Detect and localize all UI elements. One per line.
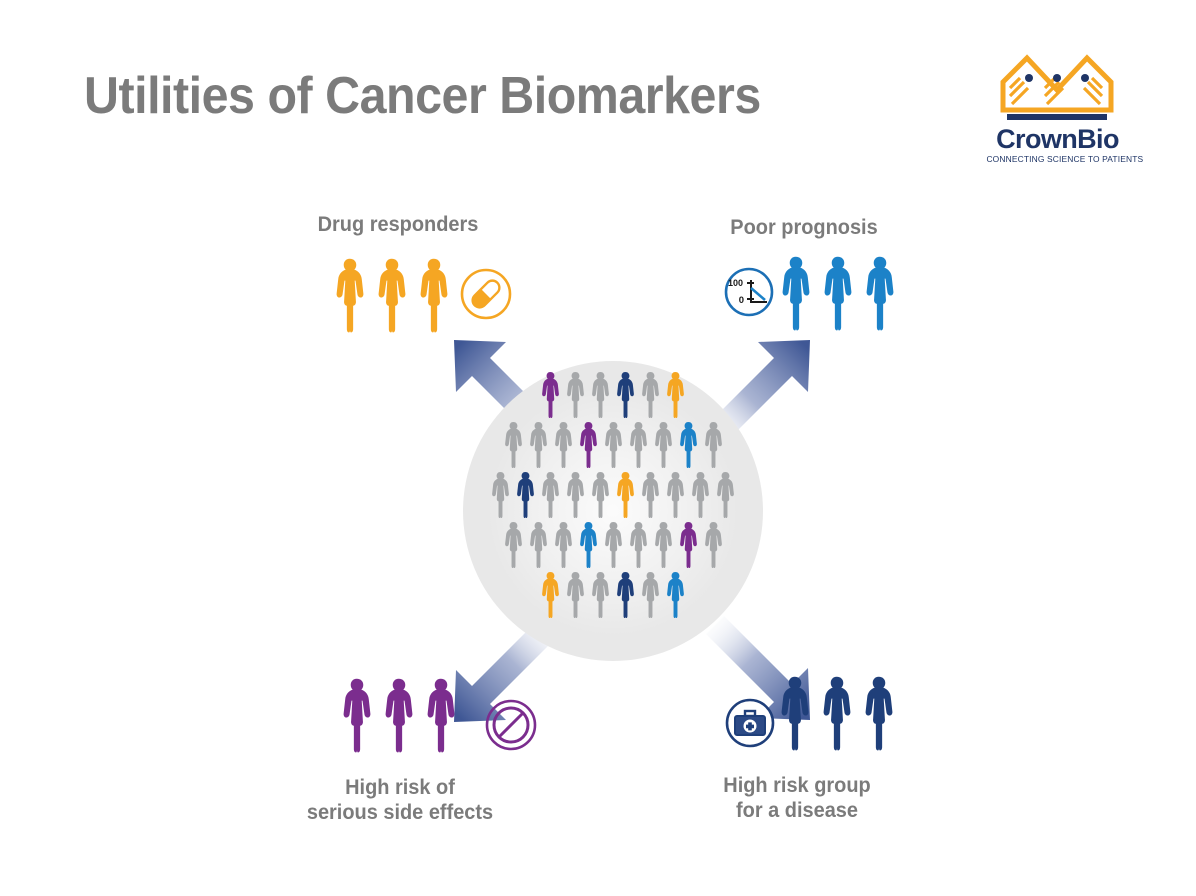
person-figure bbox=[588, 469, 613, 519]
group-high-risk-disease bbox=[775, 670, 899, 752]
person-figure bbox=[776, 250, 816, 332]
no-entry-icon bbox=[484, 698, 538, 757]
pill-icon bbox=[459, 267, 513, 326]
person-figure bbox=[538, 369, 563, 419]
person-figure bbox=[576, 419, 601, 469]
person-figure bbox=[701, 419, 726, 469]
person-figure bbox=[563, 469, 588, 519]
group-drug-responders bbox=[330, 252, 454, 334]
person-figure bbox=[526, 519, 551, 569]
person-figure bbox=[663, 569, 688, 619]
population-cluster bbox=[463, 361, 763, 661]
person-figure bbox=[538, 469, 563, 519]
logo-tagline: CONNECTING SCIENCE TO PATIENTS bbox=[986, 154, 1128, 164]
person-figure bbox=[638, 369, 663, 419]
person-figure bbox=[859, 670, 899, 752]
person-figure bbox=[701, 519, 726, 569]
population-row bbox=[463, 469, 763, 519]
person-figure bbox=[372, 252, 412, 334]
person-figure bbox=[337, 672, 377, 754]
person-figure bbox=[676, 519, 701, 569]
infographic-canvas: Utilities of Cancer Biomarkers Cr bbox=[0, 0, 1196, 896]
medical-kit-icon bbox=[724, 697, 776, 754]
person-figure bbox=[576, 519, 601, 569]
person-figure bbox=[651, 519, 676, 569]
person-figure bbox=[501, 519, 526, 569]
person-figure bbox=[538, 569, 563, 619]
person-figure bbox=[563, 369, 588, 419]
person-figure bbox=[626, 419, 651, 469]
person-figure bbox=[551, 519, 576, 569]
crownbio-logo: CrownBio CONNECTING SCIENCE TO PATIENTS bbox=[985, 48, 1130, 163]
person-figure bbox=[588, 369, 613, 419]
person-figure bbox=[860, 250, 900, 332]
person-figure bbox=[626, 519, 651, 569]
person-figure bbox=[501, 419, 526, 469]
label-high-risk-group: High risk group for a disease bbox=[667, 774, 927, 824]
crown-icon bbox=[993, 48, 1121, 126]
label-drug-responders: Drug responders bbox=[275, 213, 522, 238]
person-figure bbox=[638, 469, 663, 519]
gauge-high-label: 100 bbox=[728, 278, 743, 288]
person-figure bbox=[688, 469, 713, 519]
person-figure bbox=[613, 369, 638, 419]
person-figure bbox=[613, 569, 638, 619]
population-row bbox=[463, 519, 763, 569]
label-poor-prognosis: Poor prognosis bbox=[675, 216, 933, 241]
person-figure bbox=[414, 252, 454, 334]
population-row bbox=[463, 569, 763, 619]
person-figure bbox=[817, 670, 857, 752]
person-figure bbox=[526, 419, 551, 469]
person-figure bbox=[713, 469, 738, 519]
person-figure bbox=[513, 469, 538, 519]
person-figure bbox=[601, 419, 626, 469]
person-figure bbox=[663, 369, 688, 419]
population-row bbox=[463, 369, 763, 419]
page-title: Utilities of Cancer Biomarkers bbox=[84, 66, 761, 126]
person-figure bbox=[638, 569, 663, 619]
person-figure bbox=[651, 419, 676, 469]
person-figure bbox=[421, 672, 461, 754]
person-figure bbox=[818, 250, 858, 332]
gauge-icon: 100 0 bbox=[723, 266, 775, 323]
population-row bbox=[463, 419, 763, 469]
person-figure bbox=[676, 419, 701, 469]
person-figure bbox=[588, 569, 613, 619]
person-figure bbox=[775, 670, 815, 752]
group-serious-side-effects bbox=[337, 672, 461, 754]
label-serious-side-effects: High risk of serious side effects bbox=[275, 776, 526, 826]
person-figure bbox=[601, 519, 626, 569]
person-figure bbox=[551, 419, 576, 469]
person-figure bbox=[663, 469, 688, 519]
person-figure bbox=[613, 469, 638, 519]
person-figure bbox=[330, 252, 370, 334]
person-figure bbox=[379, 672, 419, 754]
group-poor-prognosis bbox=[776, 250, 900, 332]
person-figure bbox=[488, 469, 513, 519]
logo-brand-text: CrownBio bbox=[985, 126, 1130, 153]
person-figure bbox=[563, 569, 588, 619]
gauge-low-label: 0 bbox=[739, 295, 744, 306]
